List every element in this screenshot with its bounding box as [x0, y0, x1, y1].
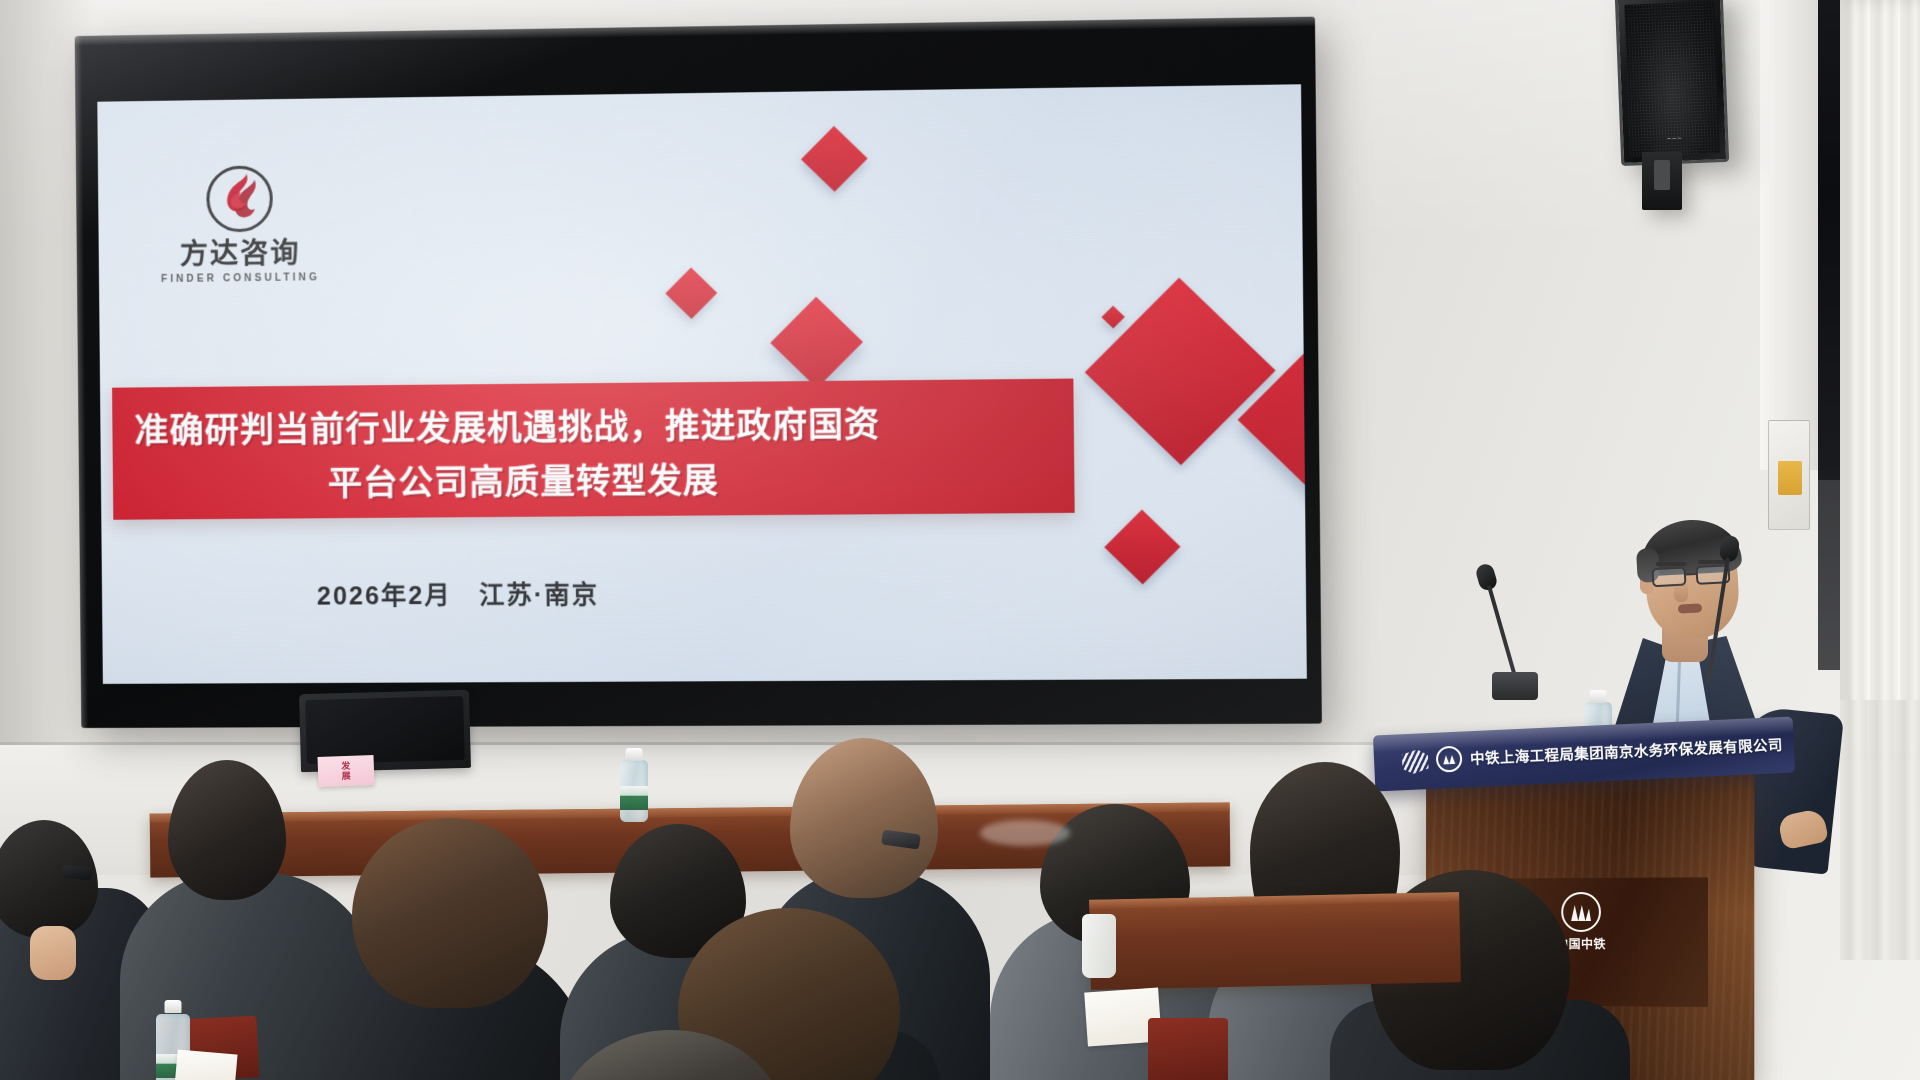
slide-title-line-1: 准确研判当前行业发展机遇挑战，推进政府国资: [134, 397, 880, 453]
audience-person-head: [790, 738, 938, 898]
projection-screen: 方达咨询 FINDER CONSULTING 准确研判当前行业发展机遇挑战，推进…: [75, 17, 1322, 728]
audience-person-head: [352, 818, 548, 1008]
presenter-nose: [1674, 580, 1688, 602]
window-curtain: [1840, 0, 1920, 760]
conference-room-scene: ~~~: [0, 0, 1920, 1080]
desk-paper[interactable]: [174, 1049, 237, 1080]
wall-switch-plate[interactable]: [1768, 420, 1810, 530]
microphone-base-left: [1492, 672, 1538, 700]
pa-speaker-cabinet: ~~~: [1615, 0, 1729, 166]
decor-diamond-3: [770, 297, 863, 389]
slide-surface: 方达咨询 FINDER CONSULTING 准确研判当前行业发展机遇挑战，推进…: [97, 84, 1307, 684]
logo-chinese-name: 方达咨询: [145, 239, 336, 269]
audience-area: 发展: [0, 700, 1460, 1080]
bottle-cap: [165, 1000, 182, 1013]
wall-column-right: [1760, 0, 1820, 470]
slide-title-line-2: 平台公司高质量转型发展: [328, 453, 719, 505]
flame-glyph: [216, 172, 265, 229]
slide-brand-logo: 方达咨询 FINDER CONSULTING: [144, 161, 336, 286]
chair-back: [1148, 1018, 1228, 1080]
desk-edge: [150, 802, 1230, 822]
decor-diamond-small: [1101, 306, 1124, 329]
decor-diamond-large-edge: [1238, 303, 1307, 534]
slide-title-band: 准确研判当前行业发展机遇挑战，推进政府国资 平台公司高质量转型发展: [112, 379, 1075, 520]
pa-speaker: ~~~: [1615, 0, 1729, 166]
audience-person-head: [168, 760, 286, 900]
name-card-text: 发展: [339, 761, 353, 781]
desk-water-bottle-1[interactable]: [620, 748, 648, 822]
bottle-label: [620, 786, 648, 810]
lens-glint: [980, 820, 1070, 846]
audience-name-card: 发展: [317, 755, 374, 787]
decor-diamond-2: [665, 268, 717, 319]
china-railway-logo-icon: [1561, 892, 1601, 932]
audience-hand: [30, 926, 76, 980]
pa-speaker-bracket: [1642, 152, 1682, 210]
slide-date-location: 2026年2月 江苏·南京: [317, 575, 600, 613]
pa-speaker-brand-logo: ~~~: [1666, 134, 1683, 144]
decor-diamond-1: [801, 126, 868, 192]
travel-mug[interactable]: [1082, 914, 1116, 978]
bottle-cap: [1590, 690, 1607, 703]
finder-flame-logo-icon: [202, 161, 277, 236]
presenter-eyebrow-left: [1656, 562, 1686, 566]
logo-english-name: FINDER CONSULTING: [145, 272, 336, 285]
presenter-mouth: [1678, 603, 1702, 613]
audience-desk-front: [1089, 892, 1461, 990]
glasses-bridge: [1686, 573, 1696, 576]
wall-switch-toggle[interactable]: [1778, 461, 1802, 495]
window-curtain-lower: [1840, 700, 1920, 960]
bottle-cap: [626, 748, 643, 761]
decor-diamond-5: [1104, 510, 1180, 585]
